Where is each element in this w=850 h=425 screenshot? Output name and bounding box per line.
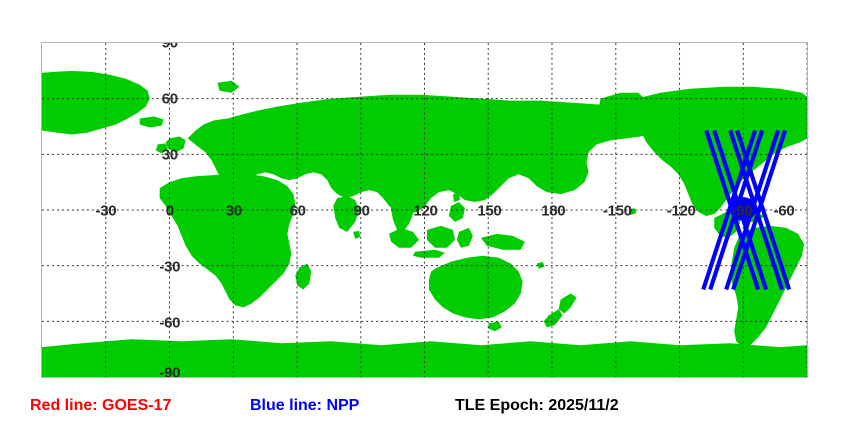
world-map-plot: .land { fill: #00cc00; stroke: none; } .… <box>41 42 808 378</box>
legend-tle-epoch: TLE Epoch: 2025/11/2 <box>455 396 619 416</box>
figure-legend: Red line: GOES-17 Blue line: NPP TLE Epo… <box>0 396 850 420</box>
ground-track-figure: .land { fill: #00cc00; stroke: none; } .… <box>0 0 850 425</box>
map-canvas: .land { fill: #00cc00; stroke: none; } .… <box>42 43 807 377</box>
legend-npp: Blue line: NPP <box>250 396 359 416</box>
npp-track-crossing-point <box>730 197 756 221</box>
legend-goes17: Red line: GOES-17 <box>30 396 171 416</box>
